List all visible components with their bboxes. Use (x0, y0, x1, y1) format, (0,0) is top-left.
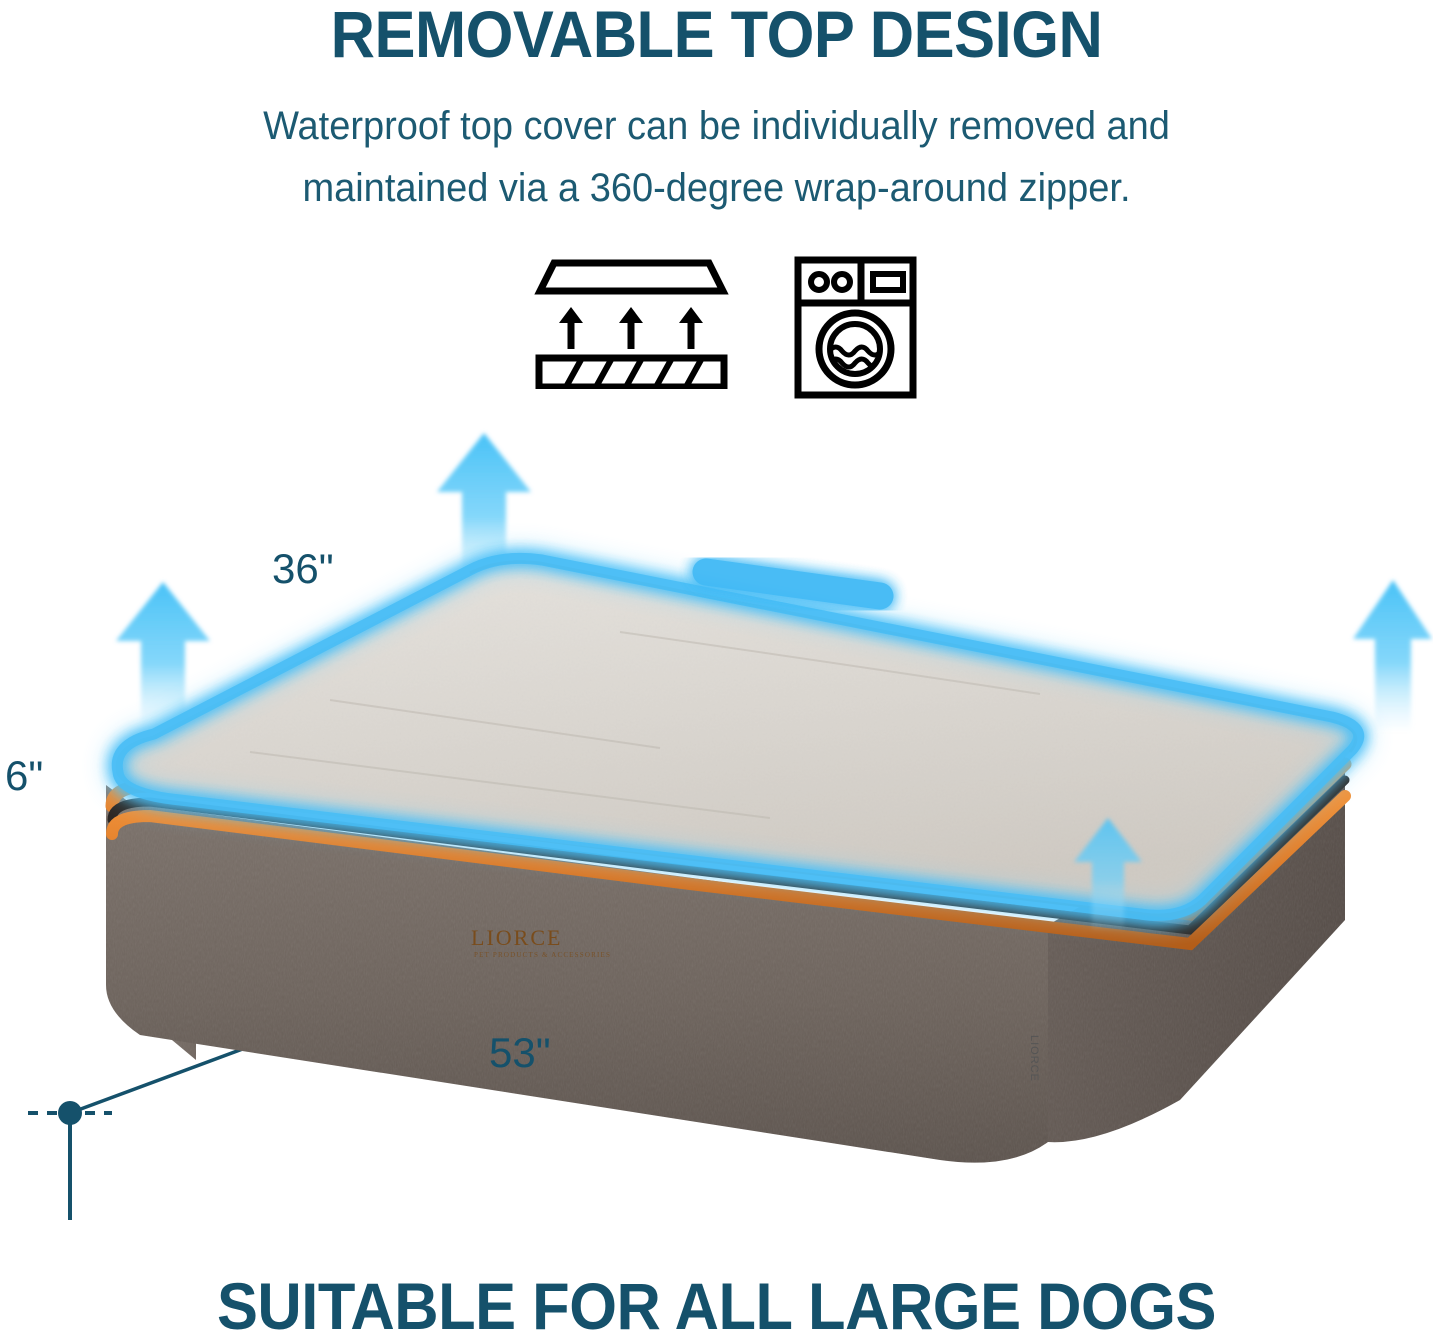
product-infographic: REMOVABLE TOP DESIGN Waterproof top cove… (0, 0, 1433, 1331)
feature-icon-row (0, 255, 1433, 410)
brand-tagline: PET PRODUCTS & ACCESSORIES (474, 951, 611, 959)
footer-title: SUITABLE FOR ALL LARGE DOGS (50, 1268, 1383, 1331)
brand-name: LIORCE (471, 925, 562, 951)
subtitle-line-2: maintained via a 360-degree wrap-around … (36, 166, 1397, 211)
lift-arrow-right (1353, 580, 1432, 730)
dimension-label-width: 36" (272, 545, 334, 593)
dimension-label-height: 6" (5, 752, 43, 800)
machine-washable-icon (793, 255, 918, 400)
subtitle-line-1: Waterproof top cover can be individually… (36, 104, 1397, 149)
care-tag-brand: LIORCE (1028, 1035, 1040, 1082)
removable-cover-icon (534, 259, 729, 389)
product-illustration (0, 400, 1433, 1220)
dimension-label-length: 53" (489, 1029, 551, 1077)
page-title: REMOVABLE TOP DESIGN (50, 0, 1383, 72)
